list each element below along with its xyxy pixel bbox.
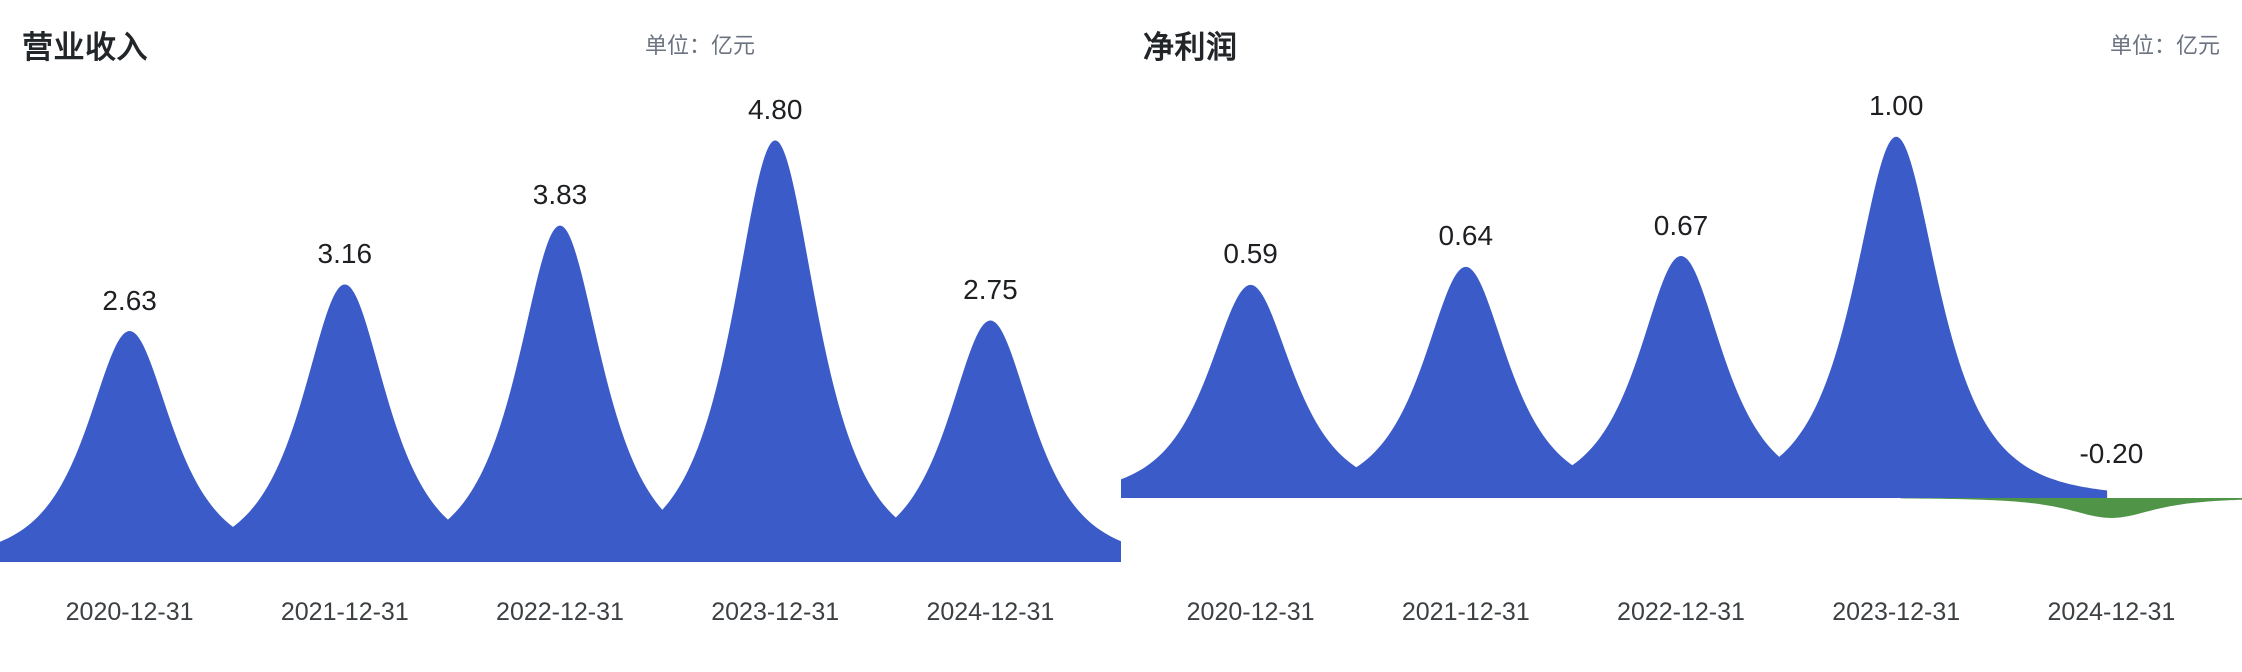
revenue-unit-label: 单位：亿元: [645, 28, 755, 60]
profit-unit-label: 单位：亿元: [2110, 28, 2220, 60]
data-spike: [1901, 498, 2242, 518]
revenue-area-svg: [0, 60, 1121, 620]
profit-plot-area: [1121, 60, 2242, 620]
profit-area-svg: [1121, 60, 2242, 620]
profit-panel: 净利润 单位：亿元 0.590.640.671.00-0.20 2020-12-…: [1121, 0, 2242, 672]
dual-chart-board: 营业收入 单位：亿元 2.633.163.834.802.75 2020-12-…: [0, 0, 2242, 672]
revenue-plot-area: [0, 60, 1121, 620]
revenue-panel: 营业收入 单位：亿元 2.633.163.834.802.75 2020-12-…: [0, 0, 1121, 672]
